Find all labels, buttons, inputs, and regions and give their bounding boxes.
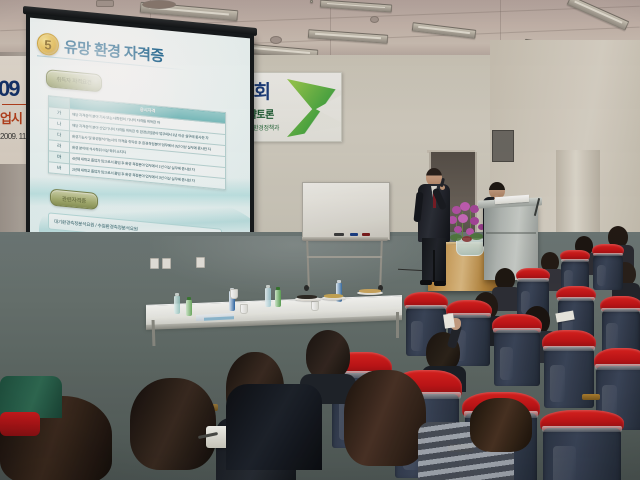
whiteboard-crossbar	[307, 256, 382, 258]
orchid-bloom	[460, 202, 470, 211]
seat-top-band	[405, 305, 447, 309]
auditorium-seat[interactable]	[600, 296, 640, 356]
ceiling-speaker	[270, 36, 282, 44]
whiteboard-eraser	[334, 233, 344, 236]
seat-back	[543, 428, 620, 480]
seat-top-band	[595, 364, 640, 370]
snack-food	[359, 289, 381, 293]
seat-top-band	[493, 328, 541, 333]
paper-cup	[311, 301, 319, 311]
photo-scene: 09 업시 2009. 11. 수회 전략토론 환경정책과 5 유망 환경 자격…	[0, 0, 640, 480]
audience-head	[130, 378, 216, 470]
seat-sheen	[597, 265, 606, 287]
seat-back	[494, 330, 540, 386]
audience-head	[344, 370, 426, 466]
seat-top-band	[561, 259, 590, 262]
wall-outlet	[196, 257, 205, 268]
ceiling-light-fixture	[308, 29, 388, 44]
left-banner-line2: 업시	[0, 108, 22, 127]
seat-sheen	[550, 365, 565, 401]
whiteboard-marker	[362, 233, 370, 236]
whiteboard-marker-tray	[302, 237, 388, 241]
seat-top-band	[601, 308, 640, 312]
slide-number-badge: 5	[37, 32, 59, 56]
whiteboard-caster	[304, 285, 309, 291]
paper-cup	[230, 289, 238, 299]
speaker-shoe	[434, 281, 446, 286]
whiteboard	[296, 182, 390, 290]
speaker-shoe	[420, 280, 432, 285]
auditorium-seat[interactable]	[540, 410, 624, 480]
table-leg	[396, 312, 399, 338]
whiteboard-leg	[306, 241, 310, 287]
auditorium-seat[interactable]	[592, 244, 624, 290]
seat-cushion-top	[0, 412, 40, 436]
bottle-cap	[187, 297, 191, 300]
ceiling-light-fixture	[567, 0, 630, 31]
seat-armrest	[582, 394, 600, 400]
orchid-bloom	[470, 217, 479, 225]
wall-outlet	[162, 258, 171, 269]
slide-table: 응시자격 가 해당 자격증의 분야 기사 또는 대학원의 기사의 자격을 취득한…	[48, 95, 226, 190]
lectern-shelf	[486, 232, 536, 234]
water-bottle	[174, 296, 180, 314]
seat-top-band	[543, 346, 595, 351]
dark-coat	[226, 384, 322, 470]
seat-sheen	[500, 347, 514, 381]
held-paper	[443, 313, 455, 328]
paper-cup	[240, 304, 248, 314]
auditorium-seat[interactable]	[492, 314, 542, 386]
right-banner-small-text: 환경정책과	[253, 123, 279, 132]
ceiling-light-fixture	[310, 0, 313, 3]
slide-pill-top: 취득자 자격요건	[46, 69, 102, 92]
seat-top-band	[557, 297, 595, 301]
bottle-cap	[266, 285, 270, 288]
whiteboard-surface	[302, 182, 390, 240]
slide-title: 유망 환경 자격증	[64, 35, 164, 65]
water-bottle	[186, 300, 192, 316]
seat-back	[593, 254, 622, 290]
table-row-key: 바	[49, 162, 70, 175]
seat-sheen	[553, 446, 576, 480]
banner-swoosh-graphic	[287, 79, 342, 137]
left-banner-line1: 09	[0, 76, 18, 102]
seat-top-band	[593, 253, 624, 256]
seat-top-band	[517, 278, 550, 282]
wall-outlet	[150, 258, 159, 269]
seat-top-band	[542, 426, 623, 432]
audience-member-foreground	[418, 398, 538, 480]
audience-member-foreground	[130, 378, 240, 480]
whiteboard-leg	[379, 241, 383, 287]
speaker-leg-split	[433, 250, 435, 282]
bottle-cap	[175, 293, 179, 296]
audience-head	[470, 398, 532, 452]
bottle-cap	[337, 280, 341, 283]
bottle-cap	[276, 287, 280, 290]
left-banner-line3: 2009. 11.	[0, 132, 27, 141]
water-bottle	[265, 288, 271, 307]
ceiling-vent	[96, 0, 114, 7]
audience-member-foreground	[226, 384, 322, 480]
ceiling-sprinkler	[370, 16, 379, 23]
ceiling-smoke-detector	[142, 0, 176, 9]
wall-speaker	[492, 130, 514, 162]
snack-food	[324, 294, 343, 298]
orchid-bloom	[458, 214, 468, 223]
speaker-person	[414, 168, 458, 288]
water-bottle	[275, 290, 281, 307]
whiteboard-marker	[350, 233, 358, 236]
foliage	[462, 236, 472, 242]
snack-food	[297, 295, 317, 299]
